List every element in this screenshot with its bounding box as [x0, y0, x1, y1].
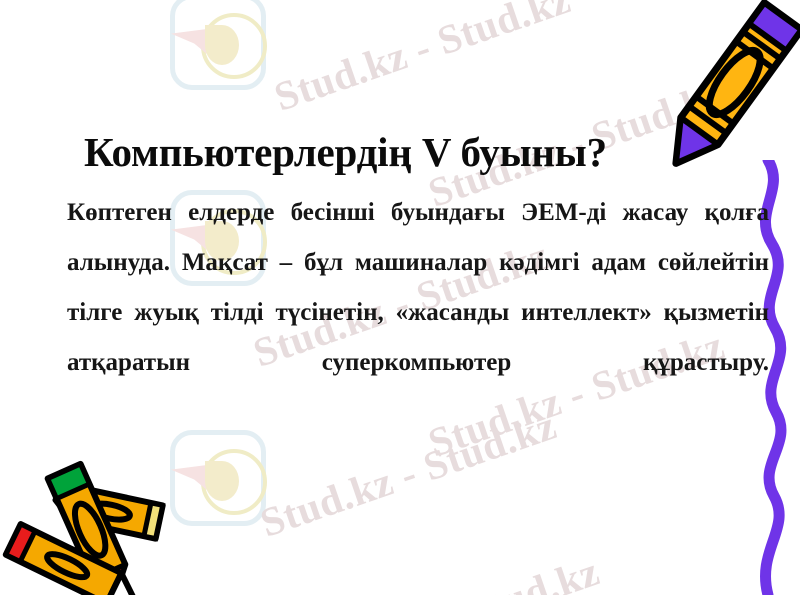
slide-title: Компьютерлердің V буыны? — [84, 130, 744, 176]
slide-body-text: Көптеген елдерде бесінші буындағы ЭЕМ-ді… — [67, 188, 769, 438]
presentation-slide: Stud.kz - Stud.kz Stud.kz - Stud.kz Stud… — [0, 0, 800, 595]
body-paragraph: Көптеген елдерде бесінші буындағы ЭЕМ-ді… — [67, 188, 769, 438]
slide-content: Компьютерлердің V буыны? Көптеген елдерд… — [0, 0, 800, 595]
